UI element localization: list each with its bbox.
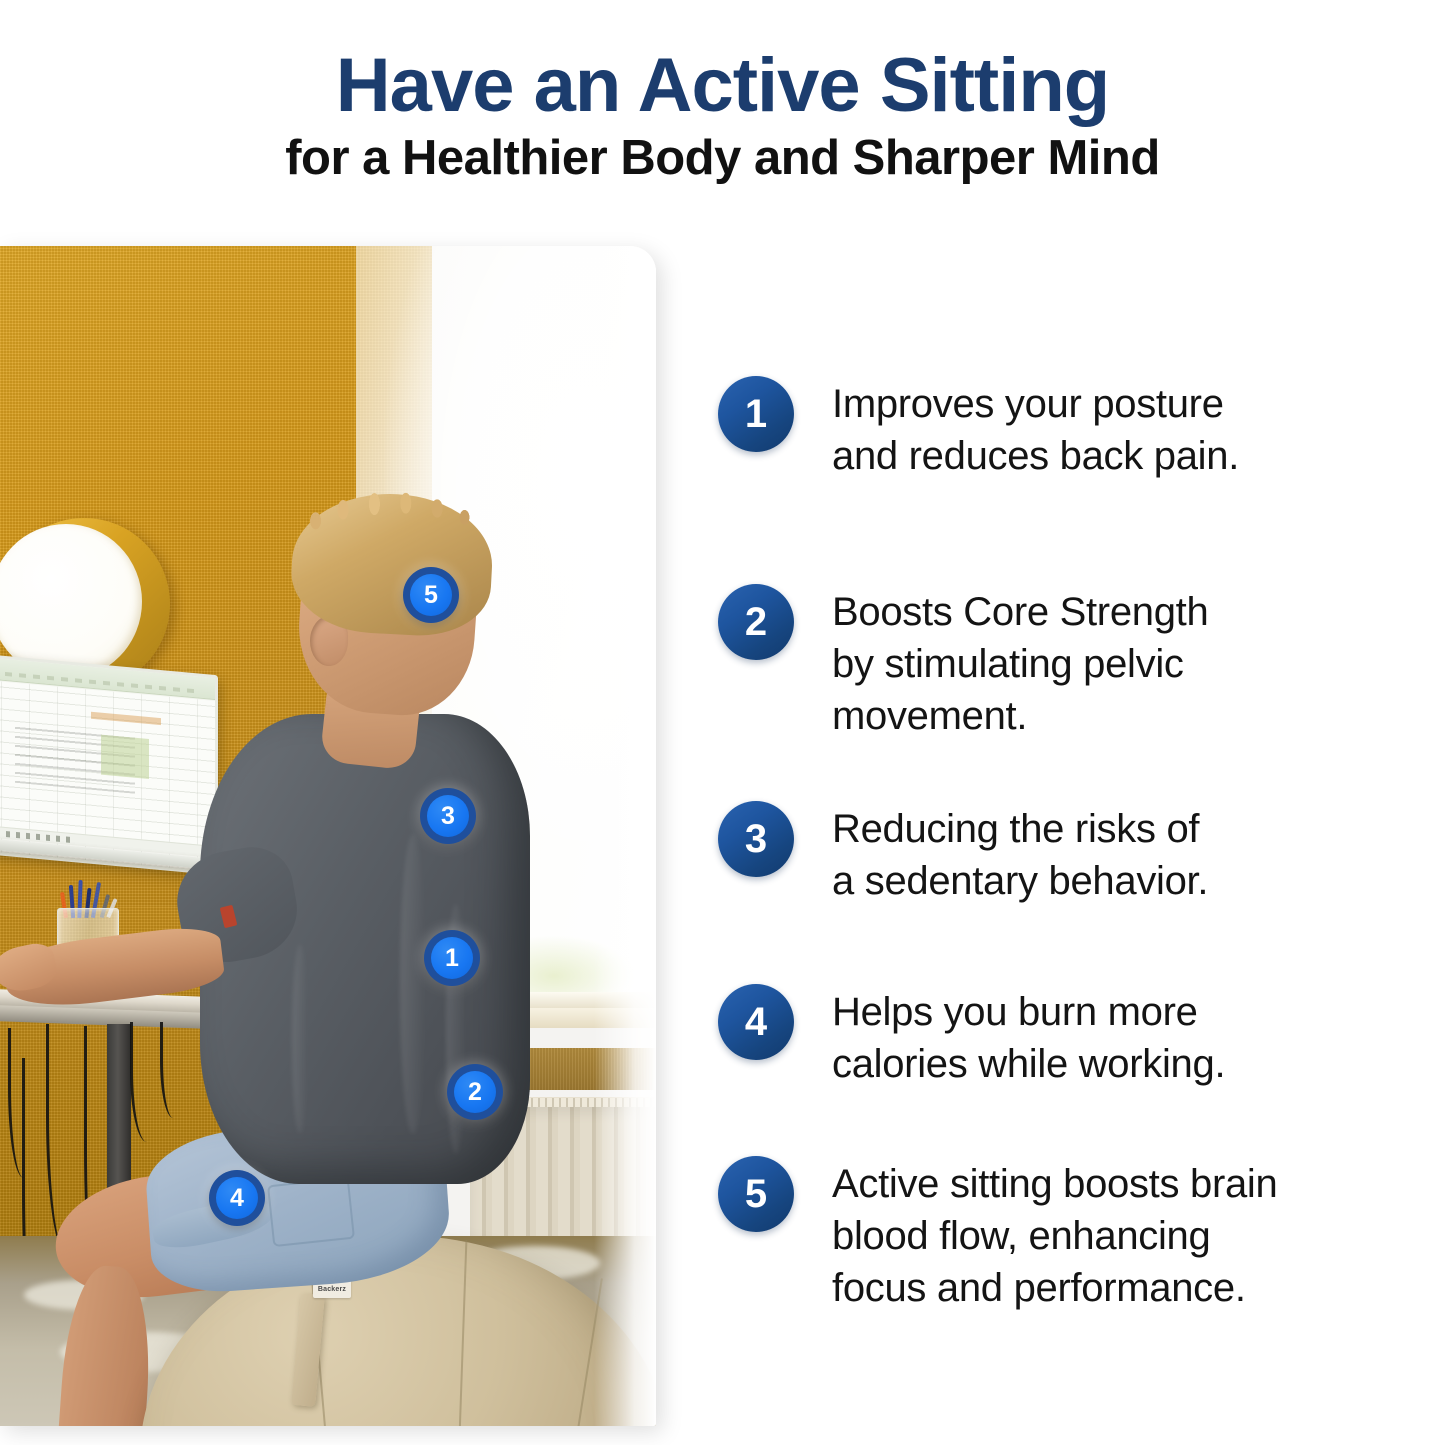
header: Have an Active Sitting for a Healthier B… [0,46,1445,186]
benefit-text: Reducing the risks of a sedentary behavi… [832,801,1208,907]
benefit-item-4: 4Helps you burn more calories while work… [718,984,1225,1090]
benefit-badge-number: 1 [745,394,767,434]
benefit-text: Boosts Core Strength by stimulating pelv… [832,584,1208,742]
benefit-badge-4: 4 [718,984,794,1060]
benefit-text: Improves your posture and reduces back p… [832,376,1239,482]
benefit-item-5: 5Active sitting boosts brain blood flow,… [718,1156,1277,1314]
benefit-badge-number: 2 [745,602,767,642]
page-subtitle: for a Healthier Body and Sharper Mind [0,131,1445,186]
shorts-pocket [267,1177,355,1247]
benefit-text: Active sitting boosts brain blood flow, … [832,1156,1277,1314]
benefit-badge-number: 4 [745,1002,767,1042]
photo-marker-label: 2 [468,1080,482,1105]
photo-scene: Backerz 53124 [0,246,656,1426]
benefit-badge-1: 1 [718,376,794,452]
photo-marker-5[interactable]: 5 [403,567,459,623]
hero-photo: Backerz 53124 [0,246,656,1426]
page-title: Have an Active Sitting [0,46,1445,125]
benefit-badge-number: 5 [745,1174,767,1214]
benefit-text: Helps you burn more calories while worki… [832,984,1225,1090]
infographic-page: Have an Active Sitting for a Healthier B… [0,0,1445,1445]
spreadsheet-highlight-cell [101,735,149,779]
benefit-badge-2: 2 [718,584,794,660]
benefit-item-3: 3Reducing the risks of a sedentary behav… [718,801,1208,907]
benefit-badge-3: 3 [718,801,794,877]
benefit-item-1: 1Improves your posture and reduces back … [718,376,1239,482]
photo-marker-label: 4 [230,1186,244,1211]
photo-marker-label: 1 [445,946,459,971]
photo-marker-1[interactable]: 1 [424,930,480,986]
hair-tufts [296,490,492,534]
benefit-item-2: 2Boosts Core Strength by stimulating pel… [718,584,1208,742]
photo-marker-4[interactable]: 4 [209,1170,265,1226]
spreadsheet-highlight-row [91,712,161,725]
photo-marker-3[interactable]: 3 [420,788,476,844]
photo-marker-label: 3 [441,804,455,829]
photo-marker-label: 5 [424,583,438,608]
benefit-badge-5: 5 [718,1156,794,1232]
photo-marker-2[interactable]: 2 [447,1064,503,1120]
benefit-badge-number: 3 [745,819,767,859]
